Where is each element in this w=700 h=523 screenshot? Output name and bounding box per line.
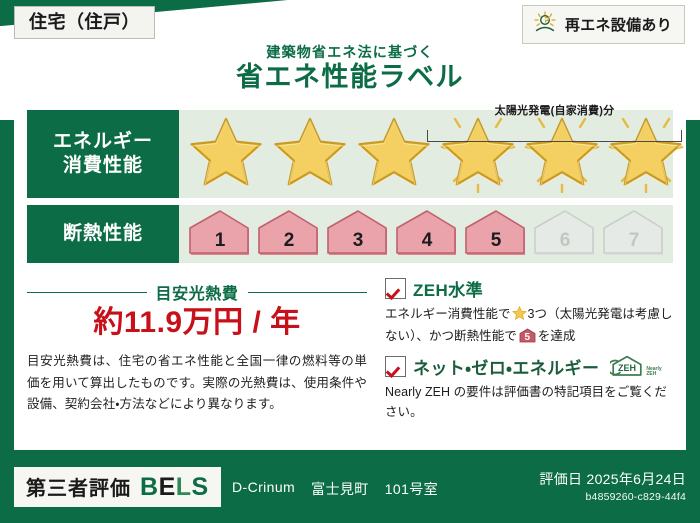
star-4-solar (437, 117, 519, 191)
performance-rows: エネルギー 消費性能 太陽光発電(自家消費)分 (14, 100, 686, 263)
zeh-suijun-body: エネルギー消費性能で3つ（太陽光発電は考慮しない）、かつ断熱性能で5を達成 (385, 304, 673, 347)
insulation-level-2: 2 (256, 209, 322, 259)
checkbox-checked-icon (385, 356, 406, 377)
evaluation-date: 評価日 2025年6月24日 (539, 469, 686, 489)
zeh-suijun-title: ZEH水準 (413, 276, 483, 301)
insulation-level-5: 5 (463, 209, 529, 259)
checkbox-checked-icon (385, 278, 406, 299)
property-area: 富士見町 (311, 479, 369, 499)
insulation-level-1: 1 (187, 209, 253, 259)
insulation-performance-label: 断熱性能 (27, 205, 179, 263)
insulation-level-scale: 1234567 (187, 209, 667, 259)
utility-cost-heading: 目安光熱費 (27, 280, 367, 304)
insulation-level-value: 3 (325, 230, 391, 252)
renewable-energy-badge: 再エネ設備あり (522, 5, 685, 44)
bels-letter-b: B (140, 473, 159, 501)
star-rating (185, 117, 687, 191)
title-subtitle: 建築物省エネ法に基づく (0, 42, 700, 62)
label-card: エネルギー 消費性能 太陽光発電(自家消費)分 (14, 100, 686, 450)
insulation-level-value: 6 (532, 230, 598, 252)
renewable-energy-badge-label: 再エネ設備あり (565, 14, 672, 35)
evaluation-id: b4859260-c829-44f4 (539, 491, 686, 503)
zeh-logo-sub-line2: ZEH (646, 371, 656, 377)
check-block-net-zero-energy: ネット・ゼロ・エネルギー ZEH Nearly ZEH (385, 354, 673, 423)
title-main: 省エネ性能ラベル (0, 63, 700, 91)
energy-performance-label-line1: エネルギー (53, 130, 153, 154)
net-zero-energy-body: Nearly ZEH の要件は評価書の特記項目をご覧ください。 (385, 382, 673, 423)
utility-cost-column: 目安光熱費 約11.9万円 / 年 目安光熱費は、住宅の省エネ性能と全国一律の燃… (27, 276, 373, 429)
energy-performance-row: エネルギー 消費性能 太陽光発電(自家消費)分 (27, 110, 673, 198)
bels-letter-e: E (159, 473, 176, 501)
utility-cost-value: 約11.9万円 / 年 (27, 306, 367, 339)
insulation-level-6: 6 (532, 209, 598, 259)
check-block-zeh-suijun: ZEH水準 エネルギー消費性能で3つ（太陽光発電は考慮しない）、かつ断熱性能で5… (385, 276, 673, 347)
bels-badge-jp: 第三者評価 (26, 472, 131, 501)
property-name: D-Crinum (232, 479, 295, 499)
zeh-suijun-body-end: を達成 (538, 329, 576, 343)
property-unit: 101号室 (385, 479, 438, 499)
insulation-level-7: 7 (601, 209, 667, 259)
inline-insulation-badge: 5 (519, 328, 536, 343)
energy-performance-label-line2: 消費性能 (63, 154, 143, 178)
insulation-level-value: 5 (463, 230, 529, 252)
insulation-performance-body: 1234567 (179, 205, 673, 263)
certification-column: ZEH水準 エネルギー消費性能で3つ（太陽光発電は考慮しない）、かつ断熱性能で5… (373, 276, 673, 429)
utility-cost-note: 目安光熱費は、住宅の省エネ性能と全国一律の燃料等の単価を用いて算出したものです。… (27, 351, 367, 416)
bels-badge-en: BELS (140, 475, 209, 500)
star-6-solar (605, 117, 687, 191)
insulation-level-value: 4 (394, 230, 460, 252)
star-3 (353, 117, 435, 191)
energy-performance-body: 太陽光発電(自家消費)分 (179, 110, 687, 198)
bels-letter-s: S (192, 473, 209, 501)
insulation-level-value: 7 (601, 230, 667, 252)
evaluation-info: 評価日 2025年6月24日 b4859260-c829-44f4 (539, 469, 686, 503)
insulation-level-4: 4 (394, 209, 460, 259)
insulation-level-value: 2 (256, 230, 322, 252)
heading-rule-left (27, 292, 147, 293)
solar-sun-icon (532, 11, 558, 38)
page-title: 建築物省エネ法に基づく 省エネ性能ラベル (0, 42, 700, 91)
svg-text:ZEH: ZEH (618, 363, 636, 373)
heading-rule-right (248, 292, 368, 293)
inline-star-icon (512, 306, 527, 326)
zeh-suijun-body-before: エネルギー消費性能で (385, 307, 511, 321)
zeh-logo-subtext: Nearly ZEH (646, 367, 661, 378)
property-info: D-Crinum 富士見町 101号室 (232, 479, 438, 499)
zeh-suijun-head: ZEH水準 (385, 276, 673, 301)
bels-letter-l: L (176, 473, 192, 501)
star-1 (185, 117, 267, 191)
insulation-level-value: 1 (187, 230, 253, 252)
zeh-house-logo-icon: ZEH Nearly ZEH (610, 355, 661, 377)
star-2 (269, 117, 351, 191)
lower-section: 目安光熱費 約11.9万円 / 年 目安光熱費は、住宅の省エネ性能と全国一律の燃… (14, 270, 686, 429)
footer-bar: 第三者評価 BELS D-Crinum 富士見町 101号室 評価日 2025年… (0, 457, 700, 523)
building-type-pill: 住宅（住戸） (14, 6, 155, 39)
insulation-performance-label-text: 断熱性能 (63, 222, 143, 246)
insulation-performance-row: 断熱性能 1234567 (27, 205, 673, 263)
energy-performance-label: エネルギー 消費性能 (27, 110, 179, 198)
utility-cost-heading-text: 目安光熱費 (156, 280, 239, 304)
bels-badge: 第三者評価 BELS (14, 467, 221, 507)
energy-label-root: 住宅（住戸） 再エネ設備あり 建築物省エネ法に基づく (0, 0, 700, 523)
net-zero-energy-head: ネット・ゼロ・エネルギー ZEH Nearly ZEH (385, 354, 673, 379)
star-5-solar (521, 117, 603, 191)
net-zero-energy-title: ネット・ゼロ・エネルギー (413, 354, 599, 379)
insulation-level-3: 3 (325, 209, 391, 259)
inline-insulation-badge-value: 5 (519, 330, 536, 346)
